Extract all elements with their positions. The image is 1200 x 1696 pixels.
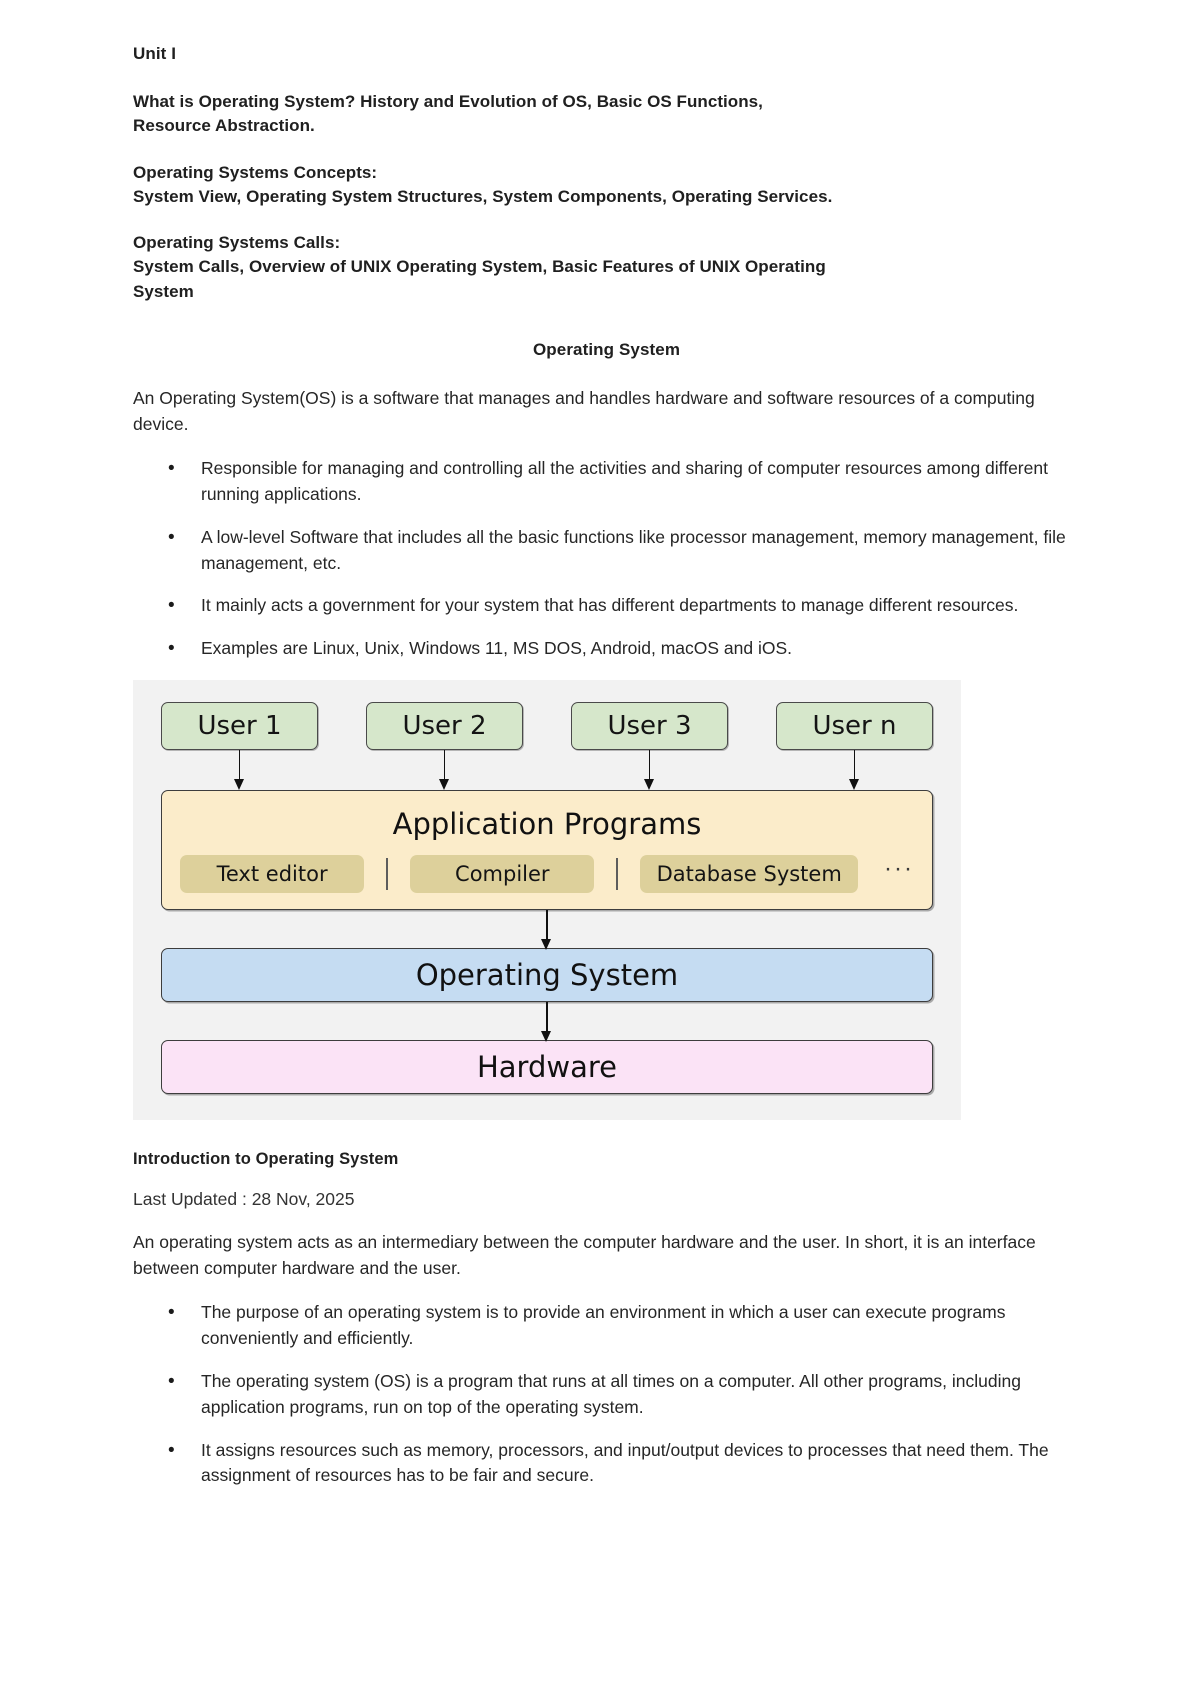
user-to-application-arrows — [161, 750, 933, 790]
users-row: User 1 User 2 User 3 User n — [161, 702, 933, 750]
syllabus-line: Operating Systems Calls: — [133, 231, 1080, 255]
os-architecture-diagram: User 1 User 2 User 3 User n Application … — [133, 680, 961, 1120]
down-arrow-icon — [541, 910, 553, 950]
list-item: Responsible for managing and controlling… — [165, 456, 1080, 508]
last-updated-text: Last Updated : 28 Nov, 2025 — [133, 1189, 1080, 1210]
intro-paragraph: An Operating System(OS) is a software th… — [133, 386, 1080, 438]
user-box-1: User 1 — [161, 702, 318, 750]
list-item: The operating system (OS) is a program t… — [165, 1369, 1080, 1421]
chip-separator — [616, 858, 618, 890]
intro-section-heading: Introduction to Operating System — [133, 1150, 1080, 1169]
user-box-3: User 3 — [571, 702, 728, 750]
arrow-column — [571, 750, 728, 790]
syllabus-block-1: What is Operating System? History and Ev… — [133, 90, 1080, 139]
syllabus-block-2: Operating Systems Concepts: System View,… — [133, 161, 1080, 210]
application-to-os-arrow — [161, 910, 933, 948]
arrow-column — [161, 750, 318, 790]
user-box-2: User 2 — [366, 702, 523, 750]
syllabus-line: What is Operating System? History and Ev… — [133, 90, 1080, 114]
operating-system-box: Operating System — [161, 948, 933, 1002]
down-arrow-icon — [541, 1002, 553, 1042]
intro-section-paragraph: An operating system acts as an intermedi… — [133, 1230, 1080, 1282]
user-box-n: User n — [776, 702, 933, 750]
arrow-column — [366, 750, 523, 790]
chip-separator — [386, 858, 388, 890]
syllabus-line: System — [133, 280, 1080, 304]
syllabus-block-3: Operating Systems Calls: System Calls, O… — [133, 231, 1080, 304]
intro-bullet-list: Responsible for managing and controlling… — [133, 456, 1080, 662]
document-page: Unit I What is Operating System? History… — [0, 0, 1200, 1696]
section-heading: Operating System — [133, 340, 1080, 360]
down-arrow-icon — [439, 750, 451, 790]
down-arrow-icon — [644, 750, 656, 790]
application-chip-text-editor: Text editor — [180, 855, 364, 893]
application-items-row: Text editor Compiler Database System ··· — [178, 855, 916, 893]
list-item: The purpose of an operating system is to… — [165, 1300, 1080, 1352]
list-item: It assigns resources such as memory, pro… — [165, 1438, 1080, 1490]
list-item: Examples are Linux, Unix, Windows 11, MS… — [165, 636, 1080, 662]
intro-section-bullet-list: The purpose of an operating system is to… — [133, 1300, 1080, 1489]
syllabus-section: Unit I What is Operating System? History… — [133, 44, 1080, 304]
application-chip-database-system: Database System — [640, 855, 858, 893]
application-programs-box: Application Programs Text editor Compile… — [161, 790, 933, 910]
hardware-box: Hardware — [161, 1040, 933, 1094]
unit-title: Unit I — [133, 44, 1080, 64]
syllabus-line: Resource Abstraction. — [133, 114, 1080, 138]
application-chip-compiler: Compiler — [410, 855, 594, 893]
ellipsis-icon: ··· — [884, 857, 914, 891]
list-item: It mainly acts a government for your sys… — [165, 593, 1080, 619]
application-programs-label: Application Programs — [178, 807, 916, 841]
list-item: A low-level Software that includes all t… — [165, 525, 1080, 577]
down-arrow-icon — [234, 750, 246, 790]
syllabus-line: System Calls, Overview of UNIX Operating… — [133, 255, 1080, 279]
syllabus-line: System View, Operating System Structures… — [133, 185, 1080, 209]
arrow-column — [776, 750, 933, 790]
down-arrow-icon — [849, 750, 861, 790]
os-to-hardware-arrow — [161, 1002, 933, 1040]
syllabus-line: Operating Systems Concepts: — [133, 161, 1080, 185]
